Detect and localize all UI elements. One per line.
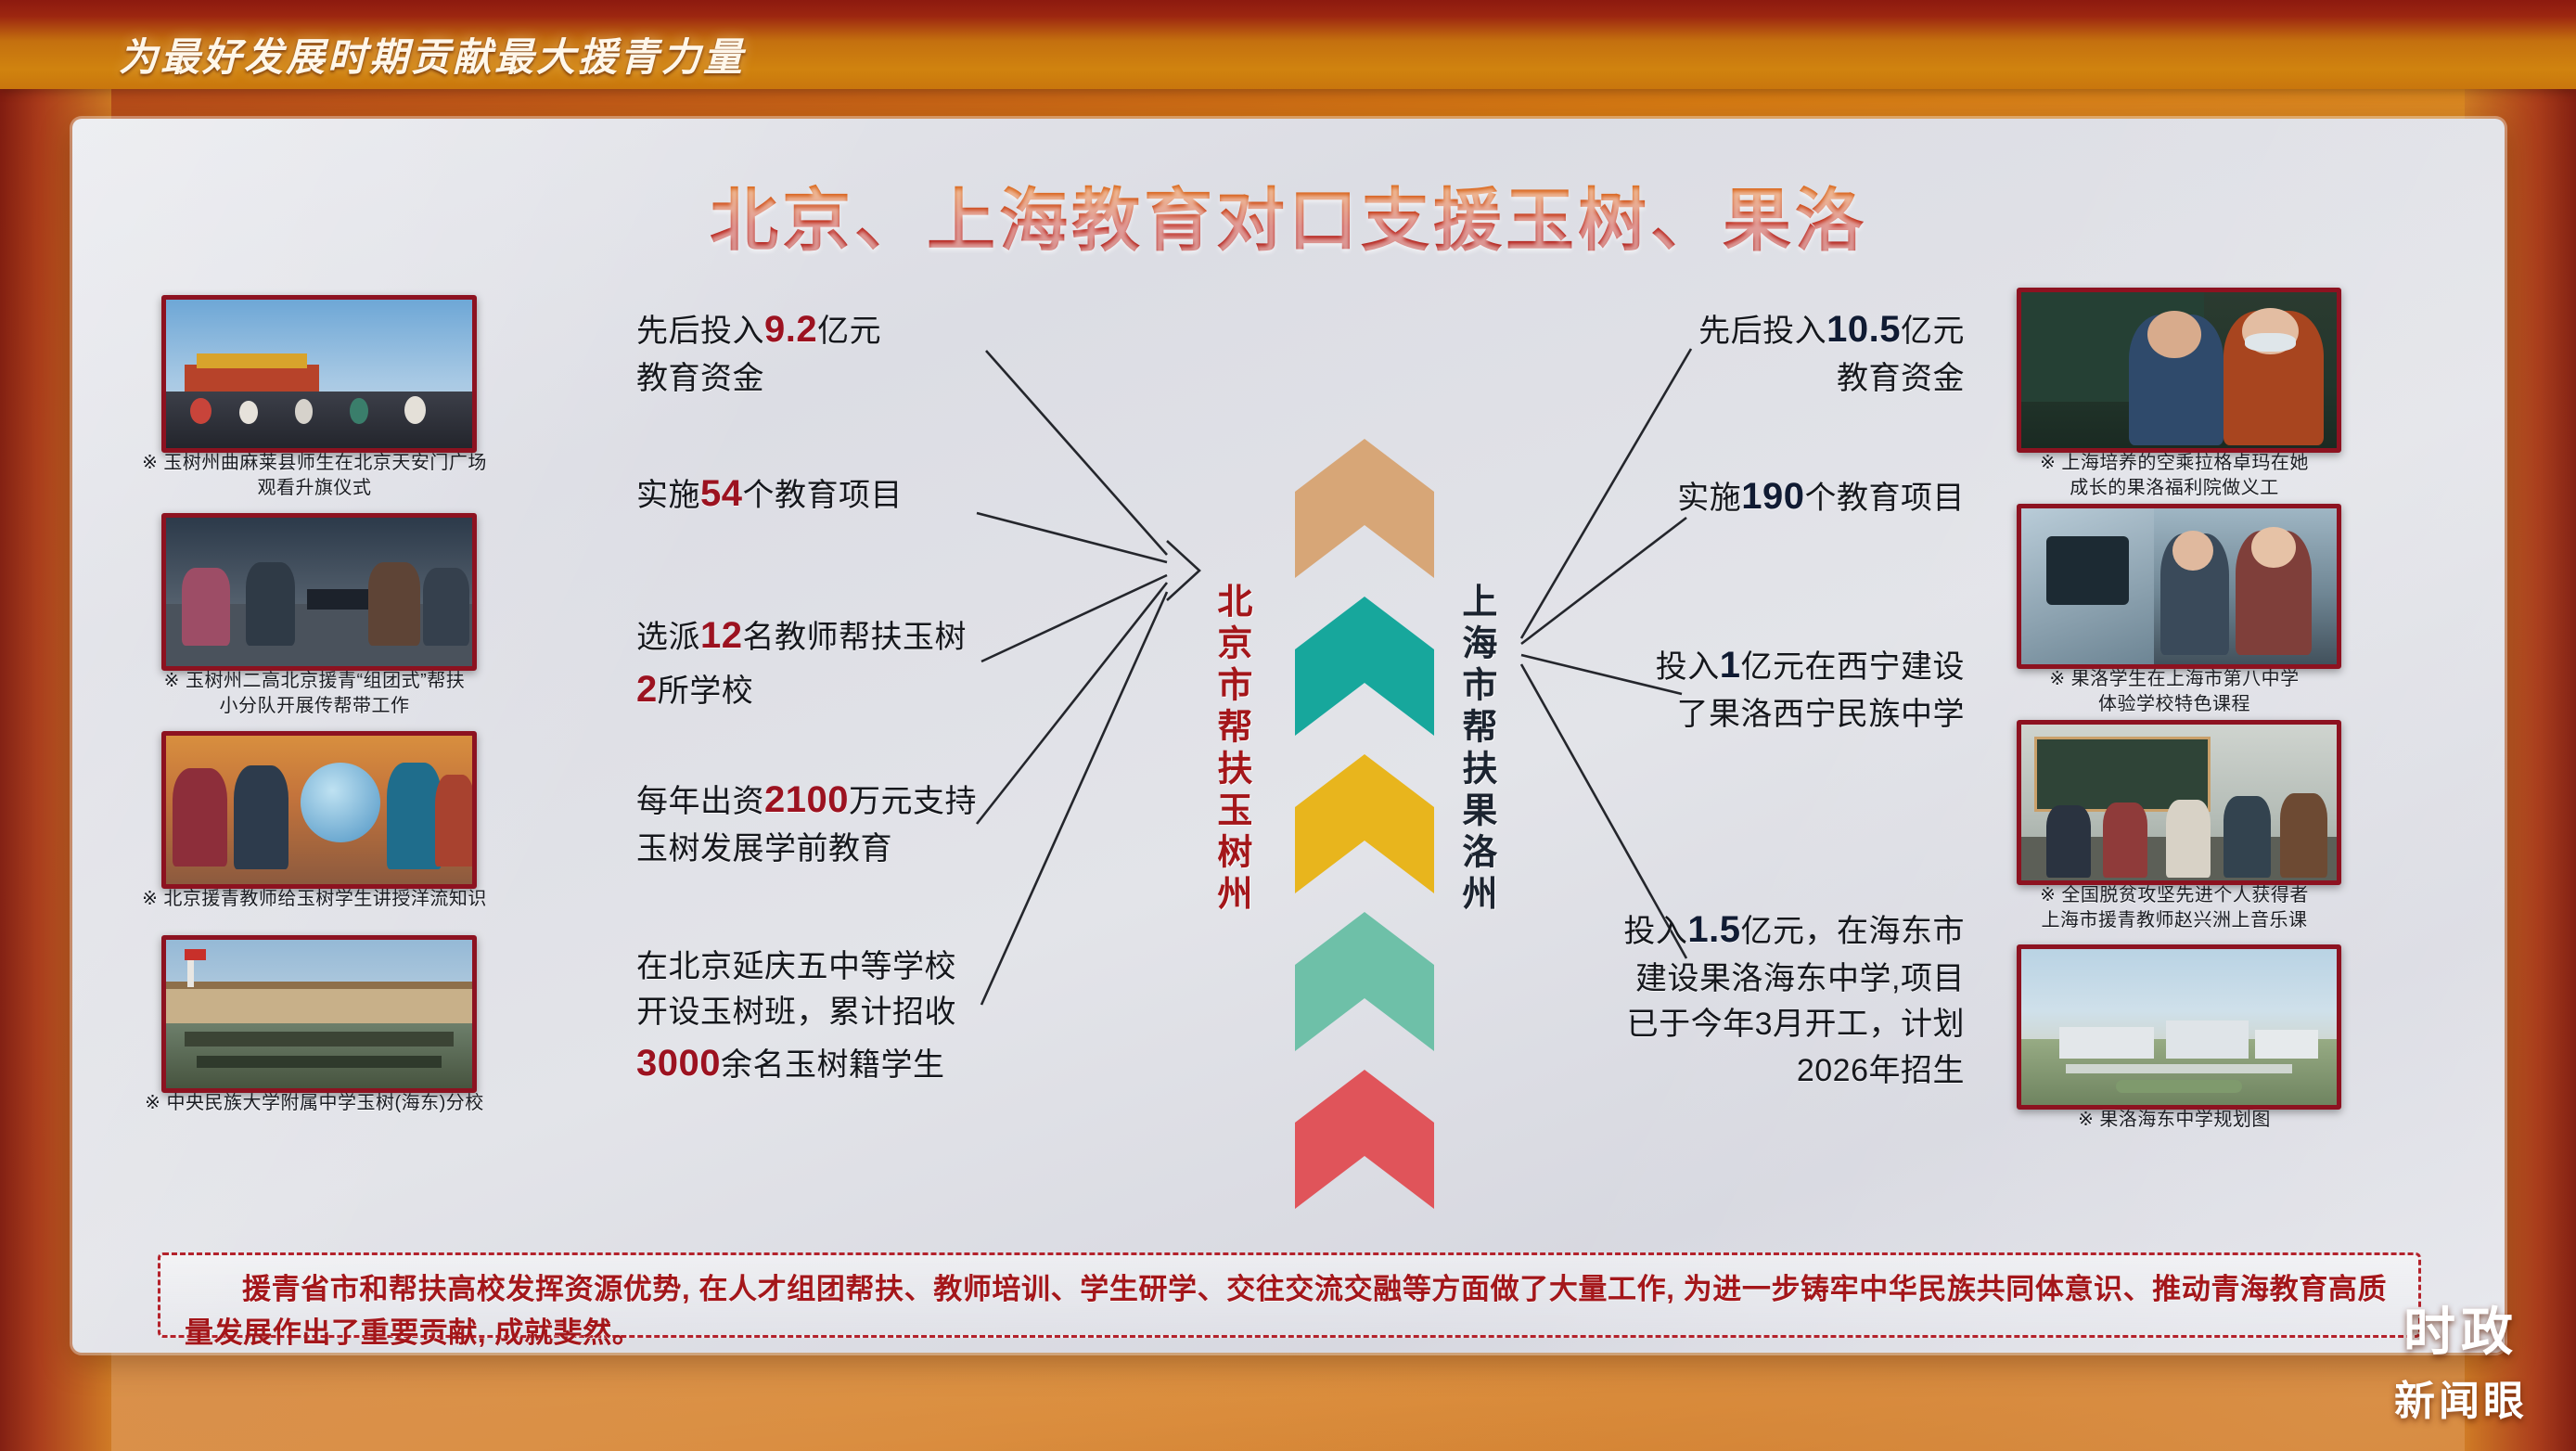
left-stat-2-suffix: 个教育项目 xyxy=(743,478,904,513)
left-stat-3-value2: 2 xyxy=(636,669,658,710)
left-stat-5-line2: 开设玉树班，累计招收 xyxy=(636,995,956,1030)
left-photo-2-caption: ※ 玉树州二高北京援青“组团式”帮扶 小分队开展传帮带工作 xyxy=(137,669,492,719)
left-stat-4-value: 2100 xyxy=(764,779,849,820)
info-board: 北京、上海教育对口支援玉树、果洛 xyxy=(72,119,2505,1353)
right-photo-2: ※ 果洛学生在上海市第八中学 体验学校特色课程 xyxy=(2017,504,2332,660)
left-photo-3: ※ 北京援青教师给玉树学生讲授洋流知识 xyxy=(161,731,468,880)
photo-ocean-current-lesson xyxy=(161,731,477,889)
photo-school-rendering xyxy=(2017,944,2341,1110)
watermark-line-2: 新闻眼 xyxy=(2394,1368,2528,1427)
right-stat-4-suffix: 亿元，在海东市 xyxy=(1741,914,1966,949)
left-stat-2: 实施54个教育项目 xyxy=(636,467,970,520)
right-photo-1: ※ 上海培养的空乘拉格卓玛在她 成长的果洛福利院做义工 xyxy=(2017,288,2332,443)
right-stat-3-value: 1 xyxy=(1720,645,1741,686)
left-stat-1-line2: 教育资金 xyxy=(636,361,764,396)
right-photo-3-caption: ※ 全国脱贫攻坚先进个人获得者 上海市援青教师赵兴洲上音乐课 xyxy=(1993,883,2356,933)
left-photo-1: ※ 玉树州曲麻莱县师生在北京天安门广场 观看升旗仪式 xyxy=(161,295,468,443)
right-stat-4-line3: 已于今年3月开工，计划 xyxy=(1627,1007,1965,1042)
right-photo-4-caption: ※ 果洛海东中学规划图 xyxy=(1993,1108,2356,1133)
right-stat-1-prefix: 先后投入 xyxy=(1698,314,1826,349)
caption-line-1: ※ 全国脱贫攻坚先进个人获得者 xyxy=(2040,885,2309,905)
photo-flight-attendant-volunteer xyxy=(2017,288,2341,453)
left-stat-3-prefix: 选派 xyxy=(636,620,700,655)
banner-title: 为最好发展时期贡献最大援青力量 xyxy=(119,26,745,83)
right-photo-2-caption: ※ 果洛学生在上海市第八中学 体验学校特色课程 xyxy=(1993,667,2356,717)
caption-line-1: ※ 玉树州二高北京援青“组团式”帮扶 xyxy=(164,671,466,691)
chevron-1 xyxy=(1295,439,1434,578)
photo-special-course xyxy=(2017,504,2341,669)
left-stat-4-line2: 玉树发展学前教育 xyxy=(636,831,892,867)
right-photo-4: ※ 果洛海东中学规划图 xyxy=(2017,944,2332,1100)
left-stat-4-suffix: 万元支持 xyxy=(849,784,977,819)
right-stat-2-prefix: 实施 xyxy=(1677,481,1741,516)
caption-line-2: 体验学校特色课程 xyxy=(2098,694,2250,714)
center-label-shanghai: 上海市帮扶果洛州 xyxy=(1456,583,1493,917)
channel-watermark: 时政 新闻眼 xyxy=(2394,1290,2528,1427)
page-title: 北京、上海教育对口支援玉树、果洛 xyxy=(72,165,2505,264)
right-stat-2-value: 190 xyxy=(1741,476,1804,517)
right-stat-1-value: 10.5 xyxy=(1826,309,1901,350)
right-stat-1-suffix: 亿元 xyxy=(1901,314,1965,349)
left-stat-5-value: 3000 xyxy=(636,1043,721,1084)
left-photo-1-caption: ※ 玉树州曲麻莱县师生在北京天安门广场 观看升旗仪式 xyxy=(137,451,492,501)
left-photo-3-caption: ※ 北京援青教师给玉树学生讲授洋流知识 xyxy=(137,887,492,912)
caption-line-2: 上海市援青教师赵兴洲上音乐课 xyxy=(2042,910,2308,931)
photo-teaching-group xyxy=(161,513,477,671)
left-stat-5-line1: 在北京延庆五中等学校 xyxy=(636,949,956,984)
right-photo-3: ※ 全国脱贫攻坚先进个人获得者 上海市援青教师赵兴洲上音乐课 xyxy=(2017,720,2332,876)
left-stat-4: 每年出资2100万元支持 玉树发展学前教育 xyxy=(636,773,989,872)
left-stat-5-suffix: 余名玉树籍学生 xyxy=(721,1047,945,1083)
photo-tiananmen xyxy=(161,295,477,453)
caption-line-1: ※ 玉树州曲麻莱县师生在北京天安门广场 xyxy=(142,453,487,473)
left-photo-4: ※ 中央民族大学附属中学玉树(海东)分校 xyxy=(161,935,468,1084)
caption-line-2: 小分队开展传帮带工作 xyxy=(220,696,410,716)
photo-minzu-school xyxy=(161,935,477,1093)
caption-line-2: 观看升旗仪式 xyxy=(258,478,372,498)
left-stat-5: 在北京延庆五中等学校 开设玉树班，累计招收 3000余名玉树籍学生 xyxy=(636,944,998,1090)
right-stat-1-line2: 教育资金 xyxy=(1837,361,1965,396)
right-stat-2-suffix: 个教育项目 xyxy=(1805,481,1966,516)
top-banner: 为最好发展时期贡献最大援青力量 xyxy=(0,0,2576,89)
left-stat-2-prefix: 实施 xyxy=(636,478,700,513)
right-stat-3: 投入1亿元在西宁建设 了果洛西宁民族中学 xyxy=(1557,638,1965,738)
left-stat-4-prefix: 每年出资 xyxy=(636,784,764,819)
right-stat-4-line2: 建设果洛海东中学,项目 xyxy=(1635,961,1965,996)
caption-line-1: ※ 上海培养的空乘拉格卓玛在她 xyxy=(2040,453,2309,473)
poster-stage: 为最好发展时期贡献最大援青力量 北京、上海教育对口支援玉树、果洛 xyxy=(0,0,2576,1451)
left-stat-3: 选派12名教师帮扶玉树 2所学校 xyxy=(636,609,989,716)
right-stat-4-line4: 2026年招生 xyxy=(1797,1053,1965,1088)
chevron-4 xyxy=(1295,912,1434,1051)
center-label-beijing: 北京市帮扶玉树州 xyxy=(1211,583,1249,917)
left-stat-1: 先后投入9.2亿元 教育资金 xyxy=(636,302,942,402)
chevron-3 xyxy=(1295,754,1434,893)
chevron-5 xyxy=(1295,1070,1434,1209)
right-photo-1-caption: ※ 上海培养的空乘拉格卓玛在她 成长的果洛福利院做义工 xyxy=(1993,451,2356,501)
right-stat-1: 先后投入10.5亿元 教育资金 xyxy=(1594,302,1965,402)
left-photo-2: ※ 玉树州二高北京援青“组团式”帮扶 小分队开展传帮带工作 xyxy=(161,513,468,661)
watermark-line-1: 时政 xyxy=(2394,1290,2528,1366)
left-photo-4-caption: ※ 中央民族大学附属中学玉树(海东)分校 xyxy=(137,1091,492,1116)
summary-box: 援青省市和帮扶高校发挥资源优势, 在人才组团帮扶、教师培训、学生研学、交往交流交… xyxy=(158,1252,2421,1338)
chevron-stack xyxy=(1295,439,1434,1209)
left-stat-2-value: 54 xyxy=(700,473,743,514)
caption-line-2: 成长的果洛福利院做义工 xyxy=(2070,478,2279,498)
right-stat-3-line2: 了果洛西宁民族中学 xyxy=(1677,697,1966,732)
right-stat-4: 投入1.5亿元，在海东市 建设果洛海东中学,项目 已于今年3月开工，计划 202… xyxy=(1547,903,1965,1094)
left-stat-1-value: 9.2 xyxy=(764,309,817,350)
right-stat-2: 实施190个教育项目 xyxy=(1575,469,1965,523)
left-stat-3-suffix2: 所学校 xyxy=(658,674,754,709)
right-stat-4-value: 1.5 xyxy=(1687,909,1740,950)
right-stat-3-suffix: 亿元在西宁建设 xyxy=(1741,649,1966,685)
left-stat-1-prefix: 先后投入 xyxy=(636,314,764,349)
caption-line-1: ※ 果洛学生在上海市第八中学 xyxy=(2049,669,2299,689)
caption-line-1: ※ 北京援青教师给玉树学生讲授洋流知识 xyxy=(142,889,487,909)
left-stat-3-value: 12 xyxy=(700,615,743,656)
caption-line-1: ※ 中央民族大学附属中学玉树(海东)分校 xyxy=(145,1093,484,1113)
right-stat-3-prefix: 投入 xyxy=(1656,649,1720,685)
photo-music-class xyxy=(2017,720,2341,885)
caption-line-1: ※ 果洛海东中学规划图 xyxy=(2078,1110,2271,1130)
left-stat-3-suffix: 名教师帮扶玉树 xyxy=(743,620,968,655)
left-stat-1-suffix: 亿元 xyxy=(817,314,881,349)
right-stat-4-prefix: 投入 xyxy=(1623,914,1687,949)
chevron-2 xyxy=(1295,597,1434,736)
summary-text: 援青省市和帮扶高校发挥资源优势, 在人才组团帮扶、教师培训、学生研学、交往交流交… xyxy=(185,1268,2394,1353)
